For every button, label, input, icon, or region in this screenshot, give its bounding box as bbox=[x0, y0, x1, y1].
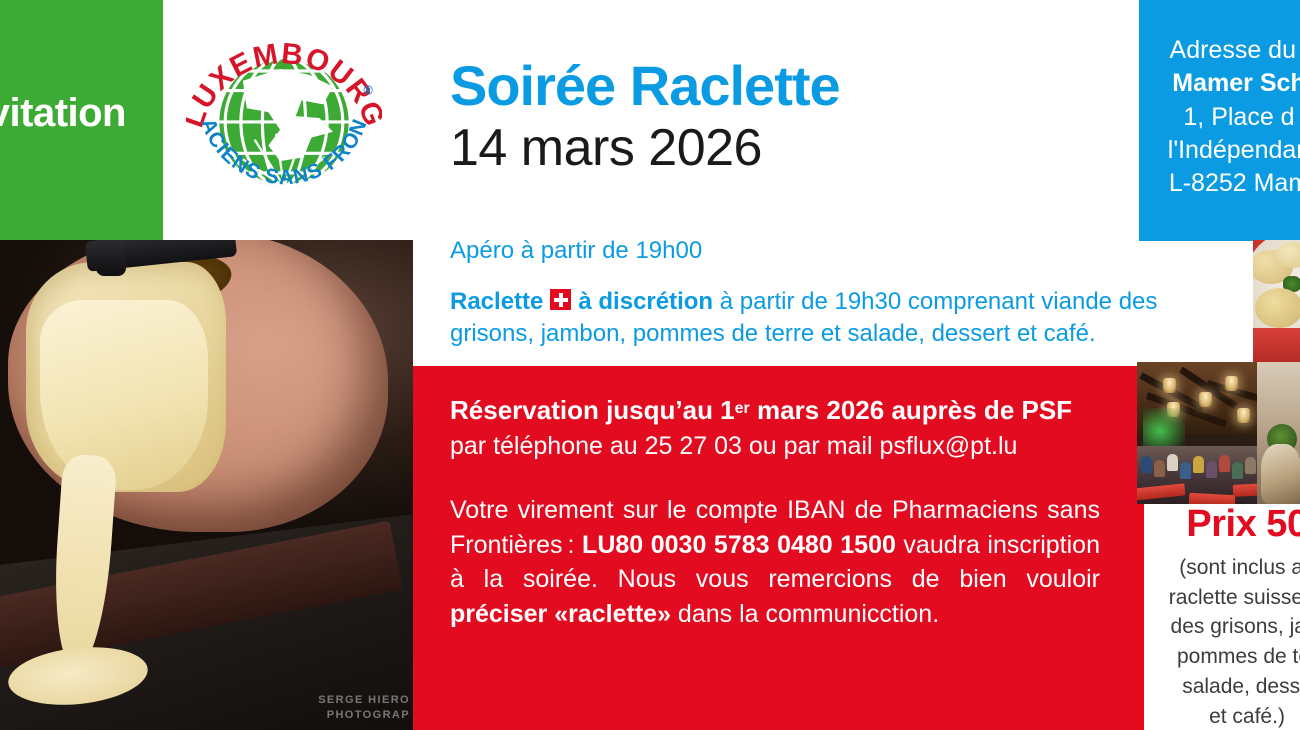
dining-hall-photo bbox=[1137, 362, 1300, 504]
price-title: Prix 50 bbox=[1147, 504, 1300, 546]
payment-emphasis: préciser «raclette» bbox=[450, 600, 671, 628]
payment-paragraph: Votre virement sur le compte IBAN de Pha… bbox=[450, 493, 1100, 631]
hall-person bbox=[1180, 462, 1191, 479]
hall-lamp bbox=[1225, 376, 1238, 391]
apero-line: Apéro à partir de 19h00 bbox=[450, 236, 1220, 266]
hall-lamp bbox=[1237, 408, 1250, 423]
iban-number: LU80 0030 5783 0480 1500 bbox=[582, 531, 896, 559]
hall-person bbox=[1206, 461, 1217, 478]
photo-credit-line1: SERGE HIERO bbox=[318, 693, 410, 708]
psf-logo: LUXEMBOURG PHARMACIENS SANS FRONTIERES ® bbox=[186, 14, 382, 226]
headline: Soirée Raclette 14 mars 2026 bbox=[450, 57, 840, 177]
programme-text: Apéro à partir de 19h00 Racletteà discré… bbox=[450, 236, 1220, 349]
address-line-1: Adresse du j bbox=[1139, 34, 1300, 67]
reservation-ordinal: er bbox=[735, 400, 750, 417]
hall-person bbox=[1232, 462, 1243, 479]
reservation-deadline-b: mars 2026 auprès de PSF bbox=[750, 395, 1072, 425]
invitation-label: vitation bbox=[0, 91, 126, 136]
event-title: Soirée Raclette bbox=[450, 57, 840, 115]
address-line-2: Mamer Sch bbox=[1139, 67, 1300, 100]
food-potato-2 bbox=[1255, 288, 1300, 328]
invitation-tab: vitation bbox=[0, 0, 163, 240]
hall-person bbox=[1219, 455, 1230, 472]
raclette-photo: SERGE HIERO PHOTOGRAP bbox=[0, 240, 413, 730]
price-desc-4: pommes de ter bbox=[1147, 642, 1300, 672]
reservation-contact: par téléphone au 25 27 03 ou par mail ps… bbox=[450, 430, 1093, 462]
svg-text:®: ® bbox=[363, 83, 373, 98]
price-desc-3: des grisons, jam bbox=[1147, 612, 1300, 642]
photo-melted-cheese bbox=[40, 300, 208, 490]
price-desc-1: (sont inclus ap bbox=[1147, 553, 1300, 583]
food-photo bbox=[1253, 240, 1300, 362]
reservation-deadline: Réservation jusqu’au 1er mars 2026 auprè… bbox=[450, 395, 1093, 426]
food-tablecloth bbox=[1253, 328, 1300, 362]
reservation-block: Réservation jusqu’au 1er mars 2026 auprè… bbox=[413, 366, 1137, 730]
raclette-bold-1: Raclette bbox=[450, 288, 543, 315]
hall-person bbox=[1154, 460, 1165, 477]
hall-lamp bbox=[1199, 392, 1212, 407]
price-description: (sont inclus ap raclette suisse, v des g… bbox=[1147, 553, 1300, 730]
price-desc-6: et café.) bbox=[1147, 702, 1300, 730]
price-left-rule bbox=[1137, 504, 1144, 730]
raclette-bold-2: à discrétion bbox=[578, 288, 713, 315]
hall-person bbox=[1193, 456, 1204, 473]
price-desc-5: salade, desse bbox=[1147, 672, 1300, 702]
hall-person bbox=[1167, 454, 1178, 471]
address-line-5: L-8252 Mam bbox=[1139, 167, 1300, 200]
photo-grill-knob bbox=[96, 240, 126, 276]
address-line-3: 1, Place d bbox=[1139, 101, 1300, 134]
payment-text-3: dans la communicction. bbox=[671, 600, 939, 628]
hall-lamp bbox=[1163, 378, 1176, 393]
photo-credit-line2: PHOTOGRAP bbox=[318, 708, 410, 723]
invitation-flyer: SERGE HIERO PHOTOGRAP vitation bbox=[0, 0, 1300, 730]
event-date: 14 mars 2026 bbox=[450, 119, 840, 177]
photo-credit: SERGE HIERO PHOTOGRAP bbox=[318, 693, 410, 723]
address-line-4: l'Indépendan bbox=[1139, 134, 1300, 167]
swiss-flag-icon bbox=[548, 287, 573, 312]
hall-person bbox=[1141, 456, 1152, 473]
price-desc-2: raclette suisse, v bbox=[1147, 583, 1300, 613]
address-panel: Adresse du j Mamer Sch 1, Place d l'Indé… bbox=[1139, 0, 1300, 241]
raclette-line: Racletteà discrétion à partir de 19h30 c… bbox=[450, 286, 1220, 349]
hall-person bbox=[1245, 457, 1256, 474]
reservation-deadline-a: Réservation jusqu’au 1 bbox=[450, 395, 735, 425]
price-block: Prix 50 (sont inclus ap raclette suisse,… bbox=[1147, 504, 1300, 730]
hall-foreground-figure bbox=[1261, 444, 1300, 504]
